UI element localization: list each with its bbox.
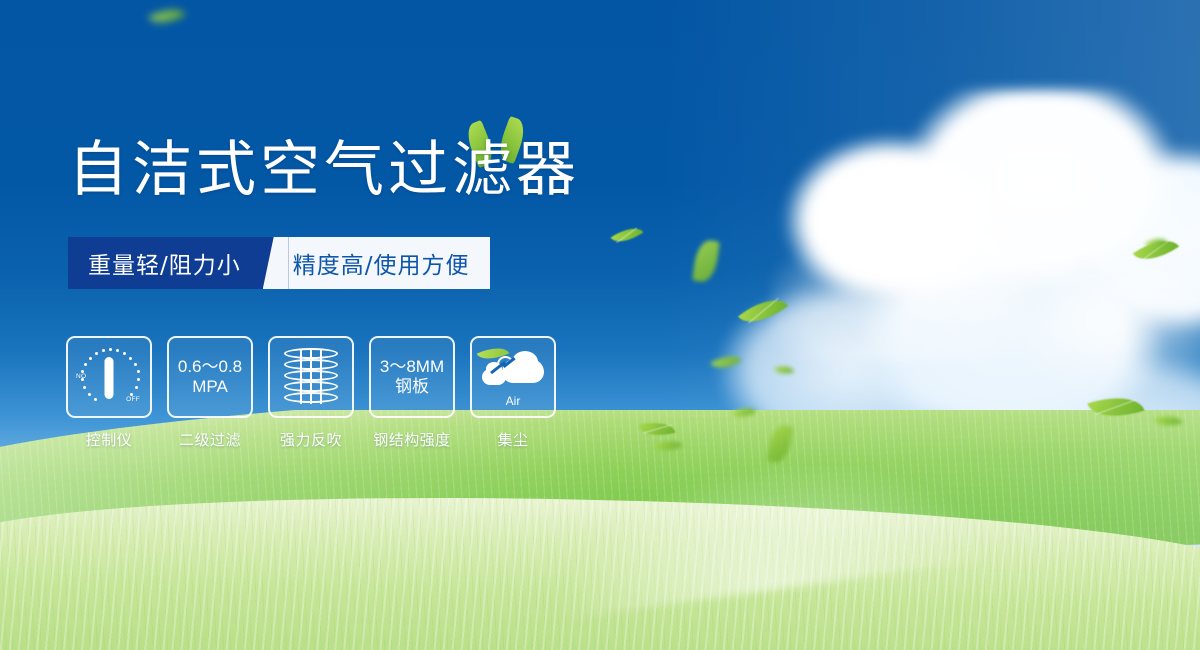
feature-icon-box: 0.6〜0.8 MPA (167, 336, 253, 418)
subtitle-divider (263, 237, 289, 289)
pressure-text-icon: 0.6〜0.8 MPA (178, 357, 242, 397)
product-banner: 自洁式空气过滤器 重量轻/阻力小 精度高/使用方便 (0, 0, 1200, 650)
gauge-label-no: NO (76, 373, 86, 380)
pressure-line-1: 0.6〜0.8 (178, 357, 242, 377)
pressure-line-2: MPA (178, 377, 242, 397)
feature-icon-box (268, 336, 354, 418)
gauge-label-off: OFF (126, 396, 140, 403)
feature-label: 钢结构强度 (373, 429, 451, 450)
feature-item-strong-blowback[interactable]: 强力反吹 (270, 336, 352, 450)
feature-icon-box: Air (470, 336, 556, 418)
gauge-dial-icon: NO OFF (76, 346, 142, 408)
feature-label: 强力反吹 (280, 429, 342, 450)
feature-label: 控制仪 (86, 429, 133, 450)
feature-item-dust-collection[interactable]: Air 集尘 (472, 336, 554, 450)
air-icon-label: Air (480, 394, 546, 408)
cloud-puff-wispy (770, 230, 1030, 360)
steel-text-icon: 3〜8MM 钢板 (380, 357, 444, 397)
feature-label: 集尘 (497, 429, 528, 450)
subtitle-left: 重量轻/阻力小 (68, 237, 263, 289)
page-title: 自洁式空气过滤器 (68, 140, 580, 200)
filter-stack-icon (284, 348, 338, 406)
feature-label: 二级过滤 (179, 429, 241, 450)
feature-icon-box: 3〜8MM 钢板 (369, 336, 455, 418)
air-cloud-icon: Air (480, 349, 546, 405)
feature-icon-box: NO OFF (66, 336, 152, 418)
steel-line-2: 钢板 (380, 377, 444, 397)
feature-item-steel-strength[interactable]: 3〜8MM 钢板 钢结构强度 (371, 336, 453, 450)
feature-list: NO OFF 控制仪 0.6〜0.8 MPA 二级过滤 (68, 336, 554, 450)
subtitle-right: 精度高/使用方便 (289, 237, 490, 289)
steel-line-1: 3〜8MM (380, 357, 444, 377)
feature-item-controller[interactable]: NO OFF 控制仪 (68, 336, 150, 450)
subtitle-bar: 重量轻/阻力小 精度高/使用方便 (68, 237, 490, 289)
gauge-needle (105, 357, 114, 399)
feature-item-two-stage-filter[interactable]: 0.6〜0.8 MPA 二级过滤 (169, 336, 251, 450)
